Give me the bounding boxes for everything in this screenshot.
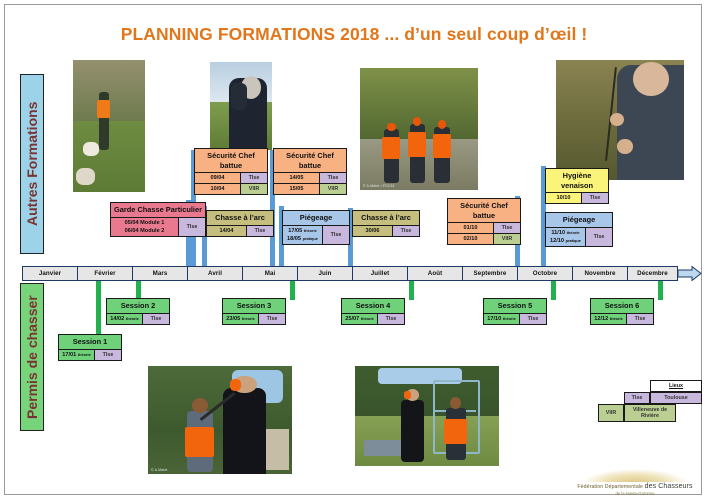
event-location: Tlse	[494, 223, 520, 233]
session-location: Tlse	[95, 350, 121, 360]
event-securite-chef-battue-avril[interactable]: Sécurité Chef battue 09/04 Tlse 10/04 Vl…	[194, 148, 268, 195]
session-location: Tlse	[627, 314, 653, 324]
timeline-month-aout[interactable]: Août	[407, 266, 462, 281]
legend-row-tlse: Tlse Toulouse	[598, 392, 702, 404]
session-6[interactable]: Session 6 12/12 théorie Tlse	[590, 298, 654, 325]
event-title: Hygiène venaison	[546, 169, 608, 193]
section-label-permis-de-chasser: Permis de chasser	[20, 283, 44, 431]
connector-session-3	[290, 280, 295, 300]
event-row: 10/04 VllR	[195, 184, 267, 194]
timeline-month-mai[interactable]: Mai	[242, 266, 297, 281]
legend-row-vllr: VllR Villeneuve de Rivière	[598, 404, 702, 422]
connector-session-4	[409, 280, 414, 300]
event-securite-chef-battue-octobre[interactable]: Sécurité Chef battue 01/10 Tlse 02/10 Vl…	[447, 198, 521, 245]
session-location: Tlse	[378, 314, 404, 324]
event-title: Chasse à l’arc	[353, 211, 419, 226]
session-location: Tlse	[520, 314, 546, 324]
event-location: Tlse	[179, 218, 205, 236]
connector-session-2	[136, 280, 141, 300]
event-garde-chasse-particulier[interactable]: Garde Chasse Particulier 05/04 Module 10…	[110, 202, 206, 237]
event-row: 09/04 Tlse	[195, 173, 267, 184]
timeline-month-novembre[interactable]: Novembre	[572, 266, 627, 281]
session-2[interactable]: Session 2 14/02 théorie Tlse	[106, 298, 170, 325]
event-chasse-a-larc-avril[interactable]: Chasse à l’arc 14/04 Tlse	[206, 210, 274, 237]
connector-session-5	[551, 280, 556, 300]
event-dates: 30/06	[353, 226, 393, 236]
photo-clay-shooting-rig	[355, 366, 499, 466]
event-dates: 01/10	[448, 223, 494, 233]
section-label-autres-formations: Autres Formations	[20, 74, 44, 254]
planning-poster: PLANNING FORMATIONS 2018 ... d’un seul c…	[0, 0, 708, 501]
event-hygiene-venaison[interactable]: Hygiène venaison 10/10 Tlse	[545, 168, 609, 204]
event-row: 30/06 Tlse	[353, 226, 419, 236]
session-title: Session 4	[342, 299, 404, 314]
connector-session-6	[658, 280, 663, 300]
session-row: 17/10 théorie Tlse	[484, 314, 546, 324]
legend-name-villeneuve: Villeneuve de Rivière	[624, 404, 676, 422]
session-title: Session 2	[107, 299, 169, 314]
photo-credit: © A.Malet / FDC31	[363, 184, 395, 188]
session-title: Session 6	[591, 299, 653, 314]
legend-header-row: Lieux	[598, 380, 702, 392]
event-row: 15/05 VllR	[274, 184, 346, 194]
session-5[interactable]: Session 5 17/10 théorie Tlse	[483, 298, 547, 325]
legend: Lieux Tlse Toulouse VllR Villeneuve de R…	[598, 380, 702, 422]
session-row: 25/07 théorie Tlse	[342, 314, 404, 324]
session-dates: 17/01 théorie	[59, 350, 95, 360]
photo-man-with-binoculars	[210, 62, 272, 150]
session-title: Session 5	[484, 299, 546, 314]
event-row: 02/10 VllR	[448, 234, 520, 244]
event-row: 17/05 théorie 18/05 pratique Tlse	[283, 226, 349, 244]
session-row: 12/12 théorie Tlse	[591, 314, 653, 324]
event-securite-chef-battue-mai[interactable]: Sécurité Chef battue 14/05 Tlse 15/05 Vl…	[273, 148, 347, 195]
photo-man-handling-branch	[556, 60, 684, 180]
event-location: VllR	[320, 184, 346, 194]
legend-name-toulouse: Toulouse	[650, 392, 702, 404]
event-dates: 05/04 Module 106/04 Module 2	[111, 218, 179, 236]
timeline-month-decembre[interactable]: Décembre	[627, 266, 678, 281]
timeline-month-octobre[interactable]: Octobre	[517, 266, 572, 281]
event-location: Tlse	[323, 226, 349, 244]
connector-session-1	[96, 280, 101, 336]
event-dates: 10/10	[546, 193, 582, 203]
legend-code-tlse: Tlse	[624, 392, 650, 404]
photo-shooting-instruction: © A.Malet	[148, 366, 292, 474]
logo-line-1: Fédération Départementale des Chasseurs	[577, 483, 692, 490]
event-dates: 14/04	[207, 226, 247, 236]
event-title: Sécurité Chef battue	[274, 149, 346, 173]
event-title: Chasse à l’arc	[207, 211, 273, 226]
event-row: 14/05 Tlse	[274, 173, 346, 184]
session-dates: 23/05 théorie	[223, 314, 259, 324]
event-title: Garde Chasse Particulier	[111, 203, 205, 218]
photo-hunter-with-dogs	[73, 60, 145, 192]
session-row: 14/02 théorie Tlse	[107, 314, 169, 324]
session-row: 17/01 théorie Tlse	[59, 350, 121, 360]
logo-swoosh-icon	[582, 469, 688, 482]
event-row: 05/04 Module 106/04 Module 2 Tlse	[111, 218, 205, 236]
session-location: Tlse	[259, 314, 285, 324]
session-row: 23/05 théorie Tlse	[223, 314, 285, 324]
session-dates: 12/12 théorie	[591, 314, 627, 324]
session-dates: 17/10 théorie	[484, 314, 520, 324]
event-row: 10/10 Tlse	[546, 193, 608, 203]
event-chasse-a-larc-juin[interactable]: Chasse à l’arc 30/06 Tlse	[352, 210, 420, 237]
page-title: PLANNING FORMATIONS 2018 ... d’un seul c…	[0, 24, 708, 45]
event-location: Tlse	[247, 226, 273, 236]
logo-fdc31: Fédération Départementale des Chasseurs …	[572, 462, 698, 496]
event-dates: 14/05	[274, 173, 320, 183]
timeline-month-mars[interactable]: Mars	[132, 266, 187, 281]
timeline-arrow-icon	[678, 266, 702, 281]
photo-credit: © A.Malet	[151, 468, 168, 472]
event-location: Tlse	[320, 173, 346, 183]
event-location: Tlse	[393, 226, 419, 236]
session-title: Session 3	[223, 299, 285, 314]
photo-three-hunters-on-path: © A.Malet / FDC31	[360, 68, 478, 190]
timeline-months: Janvier Février Mars Avril Mai Juin Juil…	[22, 266, 678, 281]
event-title: Sécurité Chef battue	[448, 199, 520, 223]
event-location: Tlse	[582, 193, 608, 203]
event-location: Tlse	[241, 173, 267, 183]
legend-code-vllr: VllR	[598, 404, 624, 422]
event-dates: 02/10	[448, 234, 494, 244]
event-row: 01/10 Tlse	[448, 223, 520, 234]
session-1[interactable]: Session 1 17/01 théorie Tlse	[58, 334, 122, 361]
event-dates: 15/05	[274, 184, 320, 194]
timeline-month-janvier[interactable]: Janvier	[22, 266, 77, 281]
event-dates: 11/10 théorie 12/10 pratique	[546, 228, 586, 246]
session-4[interactable]: Session 4 25/07 théorie Tlse	[341, 298, 405, 325]
session-dates: 14/02 théorie	[107, 314, 143, 324]
event-piegeage-octobre[interactable]: Piégeage 11/10 théorie 12/10 pratique Tl…	[545, 212, 613, 247]
timeline-month-juillet[interactable]: Juillet	[352, 266, 407, 281]
session-3[interactable]: Session 3 23/05 théorie Tlse	[222, 298, 286, 325]
event-dates: 10/04	[195, 184, 241, 194]
timeline-month-juin[interactable]: Juin	[297, 266, 352, 281]
legend-title: Lieux	[650, 380, 702, 392]
event-dates: 17/05 théorie 18/05 pratique	[283, 226, 323, 244]
event-title: Piégeage	[546, 213, 612, 228]
session-dates: 25/07 théorie	[342, 314, 378, 324]
event-location: VllR	[494, 234, 520, 244]
session-location: Tlse	[143, 314, 169, 324]
event-dates: 09/04	[195, 173, 241, 183]
event-row: 14/04 Tlse	[207, 226, 273, 236]
event-location: VllR	[241, 184, 267, 194]
event-location: Tlse	[586, 228, 612, 246]
timeline-month-avril[interactable]: Avril	[187, 266, 242, 281]
event-row: 11/10 théorie 12/10 pratique Tlse	[546, 228, 612, 246]
timeline-month-fevrier[interactable]: Février	[77, 266, 132, 281]
session-title: Session 1	[59, 335, 121, 350]
event-title: Piégeage	[283, 211, 349, 226]
event-title: Sécurité Chef battue	[195, 149, 267, 173]
event-piegeage-mai[interactable]: Piégeage 17/05 théorie 18/05 pratique Tl…	[282, 210, 350, 245]
logo-line-2: de la Haute-Garonne	[615, 491, 654, 496]
timeline-month-septembre[interactable]: Septembre	[462, 266, 517, 281]
